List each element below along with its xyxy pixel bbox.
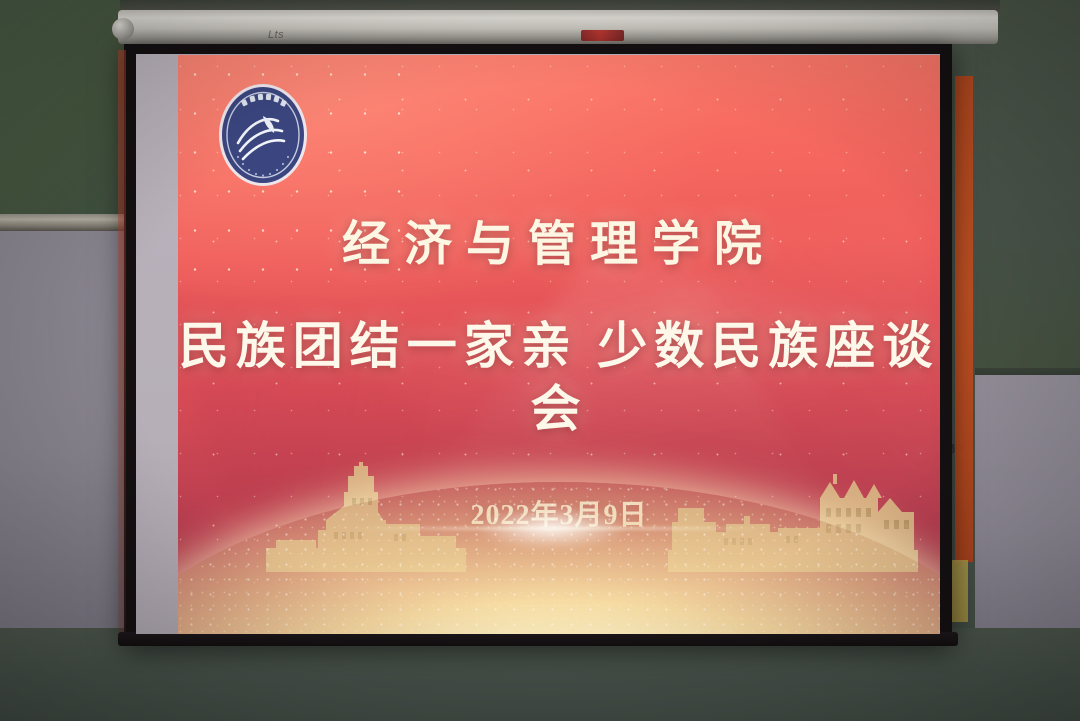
light-spill-strip	[955, 76, 973, 562]
screen-bottom-weight-bar	[118, 632, 958, 646]
light-spill-strip-lower	[952, 560, 968, 622]
university-emblem	[216, 81, 310, 189]
wall-left-lower	[0, 231, 128, 631]
horizon-lens-flare	[476, 508, 626, 548]
wall-right-lower	[975, 375, 1080, 635]
chalkboard-ledge	[0, 214, 132, 232]
projector-screen-surface: 经济与管理学院 民族团结一家亲 少数民族座谈会 2022年3月9日	[136, 54, 940, 634]
photo-scene: JR Lts	[0, 0, 1080, 721]
slide-title-block: 经济与管理学院 民族团结一家亲 少数民族座谈会	[178, 215, 940, 440]
roller-label: Lts	[268, 29, 284, 41]
frame-edge-glow	[118, 50, 126, 640]
projector-screen-roller[interactable]: Lts	[118, 10, 998, 44]
slide-title-line-2: 民族团结一家亲 少数民族座谈会	[178, 315, 940, 440]
wall-right-upper	[975, 0, 1080, 378]
roller-red-marker	[581, 30, 624, 41]
presentation-slide: 经济与管理学院 民族团结一家亲 少数民族座谈会 2022年3月9日	[178, 55, 940, 634]
slide-title-line-1: 经济与管理学院	[178, 215, 940, 275]
roller-end-cap	[112, 18, 134, 40]
